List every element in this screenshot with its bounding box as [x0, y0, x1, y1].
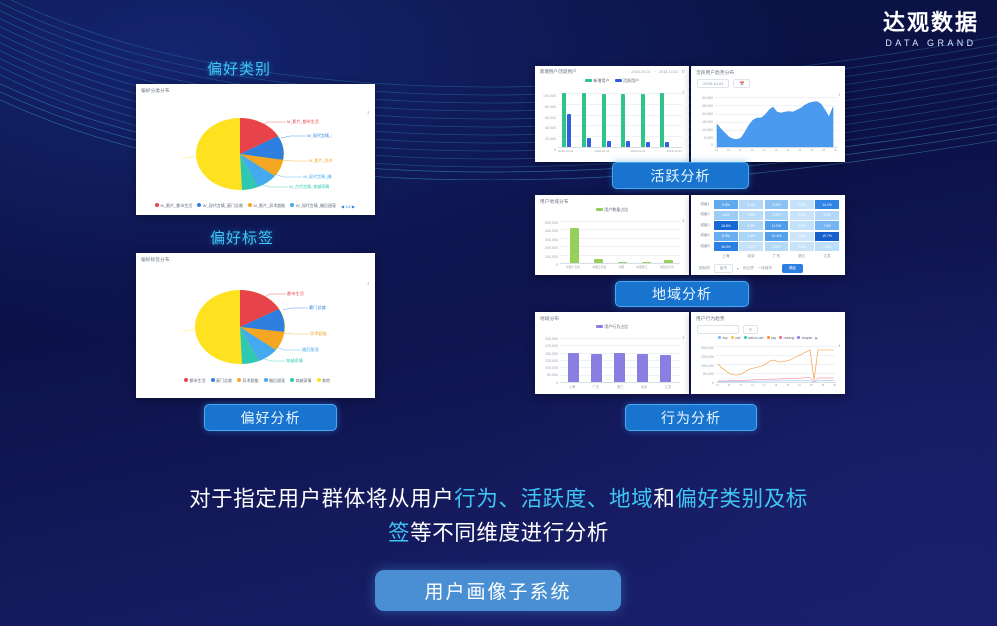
panel-active-area[interactable]: 活跃用户趋势分布 2018-10-01 📅 ⭳ 30,00025,00020,0… — [691, 66, 845, 162]
legend-item[interactable]: cart — [731, 336, 741, 340]
panel-title-pref-tag: 偏好标签分布 — [136, 253, 375, 263]
panel-title-behavior-bar: 地域分布 — [535, 312, 689, 322]
heatmap-row-label: 线级1 — [696, 200, 714, 209]
pie-label-4: W_古代言情_穿越奇情 — [289, 183, 329, 189]
download-icon[interactable]: ⭳ — [682, 89, 684, 97]
legend-region-bar[interactable]: 用户数量占比 — [535, 207, 689, 213]
plot-area-behavior-line — [716, 346, 836, 382]
pie-label-0: 都市生活 — [287, 290, 304, 297]
heatmap-cell[interactable]: 3.8% — [765, 211, 789, 220]
pie-label-2: 异术超能 — [310, 330, 328, 337]
heatmap-cell[interactable]: 3.4% — [739, 232, 763, 241]
heatmap-cell[interactable]: 7.6% — [815, 221, 839, 230]
plot-area-region-bar — [560, 221, 680, 263]
legend-pref-tag[interactable]: 都市生活 豪门总裁 异术超能 婚后甜宠 穿越奇情 其他 — [162, 378, 352, 384]
summary-line2-b: 等不同维度进行分析 — [410, 521, 609, 545]
legend-item[interactable]: 婚后甜宠 — [264, 378, 286, 384]
pie-label-3: 婚后甜宠 — [302, 346, 319, 353]
panel-title-pref-category: 偏好分类分布 — [136, 84, 375, 94]
download-icon[interactable]: ⭳ — [367, 280, 369, 288]
caption-pref-tag: 偏好标签 — [210, 227, 274, 248]
panel-behavior-line[interactable]: 用户行为趋势 ⚲ buy cart add-to-cart pay readin… — [691, 312, 845, 394]
badge-pref-analysis[interactable]: 偏好分析 — [204, 404, 337, 431]
plot-area-active-bar — [558, 93, 682, 147]
legend-pager[interactable]: ◀ 1/2 ▶ — [341, 204, 355, 209]
y-axis-region-bar: 500,000400,000300,000200,000100,0000 — [536, 219, 558, 269]
heatmap-cell[interactable]: 10.4% — [765, 232, 789, 241]
date-to[interactable]: 2018-10-31 — [659, 70, 678, 74]
cta-button[interactable]: 用户画像子系统 — [375, 570, 621, 611]
heatmap-cell[interactable]: 6.2% — [765, 200, 789, 209]
badge-behavior-analysis[interactable]: 行为分析 — [625, 404, 757, 431]
confirm-button[interactable]: 确定 — [782, 264, 803, 273]
pie-label-3: W_现代言情_婚后甜宠 — [303, 173, 332, 179]
x-axis-region-bar: 中国广东省中国江苏省中国中国浙江中国北京市 — [560, 265, 680, 269]
heatmap-cell[interactable]: 16.4% — [714, 242, 738, 251]
legend-item[interactable]: pay — [767, 336, 777, 340]
legend-pref-category[interactable]: M_影片_都市生活 W_现代言情_豪门总裁 M_影片_异术超能 W_现代言情_婚… — [142, 203, 368, 209]
toolbar-active-area[interactable]: 2018-10-01 📅 — [691, 76, 845, 88]
heatmap-cell[interactable]: 2.3% — [739, 242, 763, 251]
legend-item[interactable]: 都市生活 — [184, 378, 206, 384]
y-axis-active-area: 30,00025,00020,00015,00010,0005,0000 — [693, 95, 713, 150]
summary-line1-a: 对于指定用户群体将从用户 — [189, 487, 454, 511]
y-axis-behavior-bar: 200,000175,000150,000125,000100,00050,00… — [536, 336, 558, 387]
brand-logo-cn: 达观数据 — [883, 10, 979, 35]
badge-region-analysis[interactable]: 地域分析 — [615, 281, 749, 307]
heatmap-cell[interactable]: 14.1% — [815, 200, 839, 209]
compare-value[interactable]: 一线城市 — [758, 266, 772, 271]
pie-chart-pref-tag: 都市生活 豪门总裁 异术超能 婚后甜宠 穿越奇情 其他 — [182, 283, 332, 373]
legend-item[interactable]: chapter — [797, 336, 812, 340]
heatmap-cell[interactable]: 2.6% — [815, 242, 839, 251]
heatmap-controls[interactable]: 指标项 省市 ▾ 对比项 一线城市 确定 — [691, 259, 845, 273]
legend-active-bar[interactable]: 新增用户 活跃用户 — [535, 78, 689, 84]
y-axis-behavior-line: 300,000200,000100,00050,0000 — [692, 344, 714, 388]
pie-label-1: W_现代言情_豪门总裁 — [307, 132, 332, 138]
heatmap-cell[interactable]: 19.7% — [815, 232, 839, 241]
heatmap-cell[interactable]: 9.8% — [714, 200, 738, 209]
legend-behavior-line[interactable]: buy cart add-to-cart pay reading chapter… — [691, 336, 845, 340]
heatmap-row-label: 线级3 — [696, 220, 714, 231]
summary-text: 对于指定用户群体将从用户行为、活跃度、地域和偏好类别及标签等不同维度进行分析 — [0, 482, 997, 550]
summary-line1-hi2: 偏好类别及标 — [675, 487, 808, 511]
date-separator: ~ — [654, 70, 656, 74]
x-axis-behavior-line: 0104071013161922252830 — [716, 384, 836, 387]
heatmap-row-label: 线级4 — [696, 230, 714, 241]
legend-behavior-bar[interactable]: 用户行为占比 — [535, 324, 689, 330]
summary-line2-hi: 签 — [388, 521, 410, 545]
brand-logo-en: DATA GRAND — [883, 38, 979, 48]
panel-title-behavior-line: 用户行为趋势 — [691, 312, 845, 322]
x-axis-active-bar: 2018-10-012018-10-112018-10-212018-10-31 — [558, 149, 682, 153]
legend-item[interactable]: 用户数量占比 — [596, 207, 629, 213]
legend-item[interactable]: W_现代言情_婚后甜宠 — [290, 203, 336, 209]
badge-active-analysis[interactable]: 活跃分析 — [612, 162, 749, 189]
heatmap-cell[interactable]: 8.0% — [714, 232, 738, 241]
legend-item[interactable]: reading — [779, 336, 794, 340]
panel-active-bar[interactable]: 新增用户/活跃用户 2018-10-01 ~ 2018-10-31 ↻ 新增用户… — [535, 66, 689, 162]
panel-behavior-bar[interactable]: 地域分布 用户行为占比 ⭳ 200,000175,000150,000125,0… — [535, 312, 689, 394]
calendar-icon[interactable]: 📅 — [733, 79, 750, 88]
search-input[interactable] — [697, 325, 739, 334]
heatmap-cell[interactable]: 2.2% — [790, 200, 814, 209]
heatmap-col-label: 江苏 — [815, 254, 839, 259]
heatmap-cell[interactable]: 2.0% — [790, 211, 814, 220]
caption-pref-category: 偏好类别 — [207, 58, 271, 79]
legend-item[interactable]: 异术超能 — [237, 378, 259, 384]
legend-item[interactable]: M_影片_都市生活 — [155, 203, 192, 209]
heatmap-cell[interactable]: 3.1% — [739, 200, 763, 209]
download-icon[interactable]: ⭳ — [838, 342, 840, 350]
download-icon[interactable]: ⭳ — [367, 109, 369, 117]
brand-logo: 达观数据 DATA GRAND — [883, 10, 979, 48]
chevron-down-icon[interactable]: ▾ — [737, 267, 739, 271]
heatmap-cell[interactable]: 18.6% — [714, 221, 738, 230]
legend-item[interactable]: 新增用户 — [585, 78, 610, 84]
legend-item[interactable]: 其他 — [317, 378, 331, 384]
heatmap-col-label: 浙江 — [790, 254, 814, 259]
heatmap-col-label: 北京 — [739, 254, 763, 259]
panel-title-region-bar: 用户地域分布 — [535, 195, 689, 205]
legend-item[interactable]: 豪门总裁 — [211, 378, 233, 384]
panel-title-active-bar: 新增用户/活跃用户 — [540, 69, 576, 75]
pie-label-4: 穿越奇情 — [286, 357, 303, 364]
x-axis-behavior-bar: 上海广东浙江北京江苏 — [560, 384, 680, 389]
y-axis-active-bar: 100,00080,00060,00040,00020,0000 — [537, 91, 556, 156]
plot-area-behavior-bar — [560, 338, 680, 382]
date-range-input[interactable]: 2018-10-01 — [697, 79, 729, 88]
plot-area-active-area — [715, 97, 837, 147]
heatmap-cell[interactable]: 11.0% — [765, 221, 789, 230]
download-icon[interactable]: ⭳ — [682, 334, 684, 342]
heatmap-cell[interactable]: 2.0% — [790, 242, 814, 251]
legend-item[interactable]: 穿越奇情 — [290, 378, 312, 384]
panel-region-bar[interactable]: 用户地域分布 用户数量占比 ⭳ 500,000400,000300,000200… — [535, 195, 689, 275]
download-icon[interactable]: ⭳ — [838, 91, 840, 99]
pie-chart-pref-category: M_影片_都市生活 W_现代言情_豪门总裁 M_影片_异术超能 W_现代言情_婚… — [182, 112, 332, 192]
heatmap-row-label: 线级2 — [696, 209, 714, 220]
heatmap-cell[interactable]: 3.0% — [815, 211, 839, 220]
toolbar-behavior-line[interactable]: ⚲ — [691, 322, 845, 334]
select-metric[interactable]: 省市 — [714, 264, 733, 273]
summary-line1-hi1: 行为、活跃度、地域 — [454, 487, 653, 511]
legend-item[interactable]: W_现代言情_豪门总裁 — [197, 203, 243, 209]
panel-pref-tag[interactable]: 偏好标签分布 ⭳ 都市生活 豪门总裁 异术超能 婚后甜宠 — [136, 253, 375, 398]
search-icon[interactable]: ⚲ — [743, 325, 758, 334]
panel-region-heatmap[interactable]: 线级1 线级2 线级3 线级4 线级5 9.8% 3.1% 6.2% 2.2% … — [691, 195, 845, 275]
download-icon[interactable]: ⭳ — [682, 217, 684, 225]
pie-label-2: M_影片_异术超能 — [309, 157, 332, 163]
heatmap-cell[interactable]: 3.0% — [765, 242, 789, 251]
heatmap-grid[interactable]: 9.8% 3.1% 6.2% 2.2% 14.1% 4.6% 2.8% 3.8%… — [714, 200, 839, 251]
legend-item[interactable]: M_影片_异术超能 — [248, 203, 285, 209]
refresh-icon[interactable]: ↻ — [681, 69, 685, 75]
panel-pref-category[interactable]: 偏好分类分布 ⭳ M_影片_都市生活 W_现代言情_豪门总裁 M_影片_异 — [136, 84, 375, 215]
heatmap-col-label: 上海 — [714, 254, 738, 259]
select-label: 指标项 — [699, 266, 710, 271]
slide-root: 达观数据 DATA GRAND 偏好类别 偏好分类分布 ⭳ — [0, 0, 997, 626]
legend-item[interactable]: add-to-cart — [744, 336, 764, 340]
legend-pager[interactable]: ▶ — [815, 336, 817, 340]
heatmap-cell[interactable]: 4.6% — [714, 211, 738, 220]
legend-item[interactable]: 用户行为占比 — [596, 324, 629, 330]
heatmap-cell[interactable]: 3.3% — [739, 221, 763, 230]
heatmap-col-label: 广东 — [765, 254, 789, 259]
heatmap-cell[interactable]: 1.8% — [790, 232, 814, 241]
legend-item[interactable]: buy — [718, 336, 728, 340]
summary-line1-b: 和 — [653, 487, 675, 511]
heatmap-row-label: 线级5 — [696, 241, 714, 252]
pie-label-0: M_影片_都市生活 — [287, 118, 319, 124]
x-axis-active-area: 0104071013161922252831 — [715, 149, 837, 152]
legend-item[interactable]: 活跃用户 — [615, 78, 640, 84]
heatmap-x-labels: 上海 北京 广东 浙江 江苏 — [714, 254, 839, 259]
pie-label-1: 豪门总裁 — [309, 304, 327, 311]
date-from[interactable]: 2018-10-01 — [631, 70, 650, 74]
compare-label: 对比项 — [743, 266, 754, 271]
heatmap-cell[interactable]: 2.8% — [739, 211, 763, 220]
heatmap-cell[interactable]: 2.4% — [790, 221, 814, 230]
panel-title-active-area: 活跃用户趋势分布 — [691, 66, 845, 76]
